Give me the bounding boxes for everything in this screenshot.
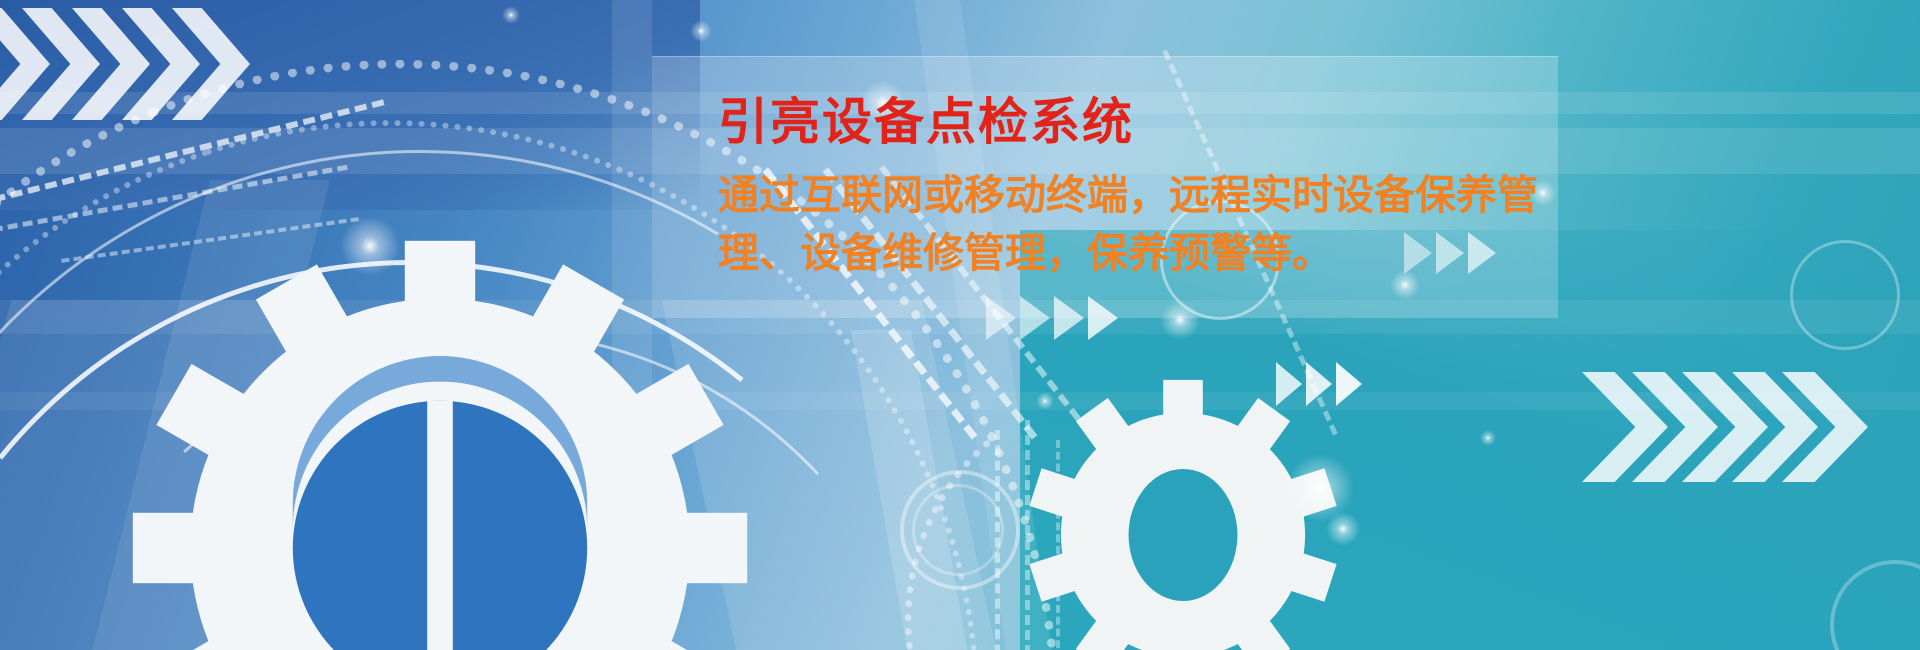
triangle-right-icon [1336, 362, 1362, 406]
banner-text-block: 引亮设备点检系统 通过互联网或移动终端，远程实时设备保养管理、设备维修管理，保养… [718, 92, 1598, 282]
banner-title: 引亮设备点检系统 [718, 92, 1598, 152]
ring-decoration [912, 484, 1004, 576]
triangle-right-icon [1306, 362, 1332, 406]
ring-decoration [1790, 240, 1900, 350]
banner-subtitle: 通过互联网或移动终端，远程实时设备保养管理、设备维修管理，保养预警等。 [718, 166, 1538, 282]
gear-icon [1018, 370, 1348, 650]
promo-banner: 引亮设备点检系统 通过互联网或移动终端，远程实时设备保养管理、设备维修管理，保养… [0, 0, 1920, 650]
triangle-right-icon [1276, 362, 1302, 406]
